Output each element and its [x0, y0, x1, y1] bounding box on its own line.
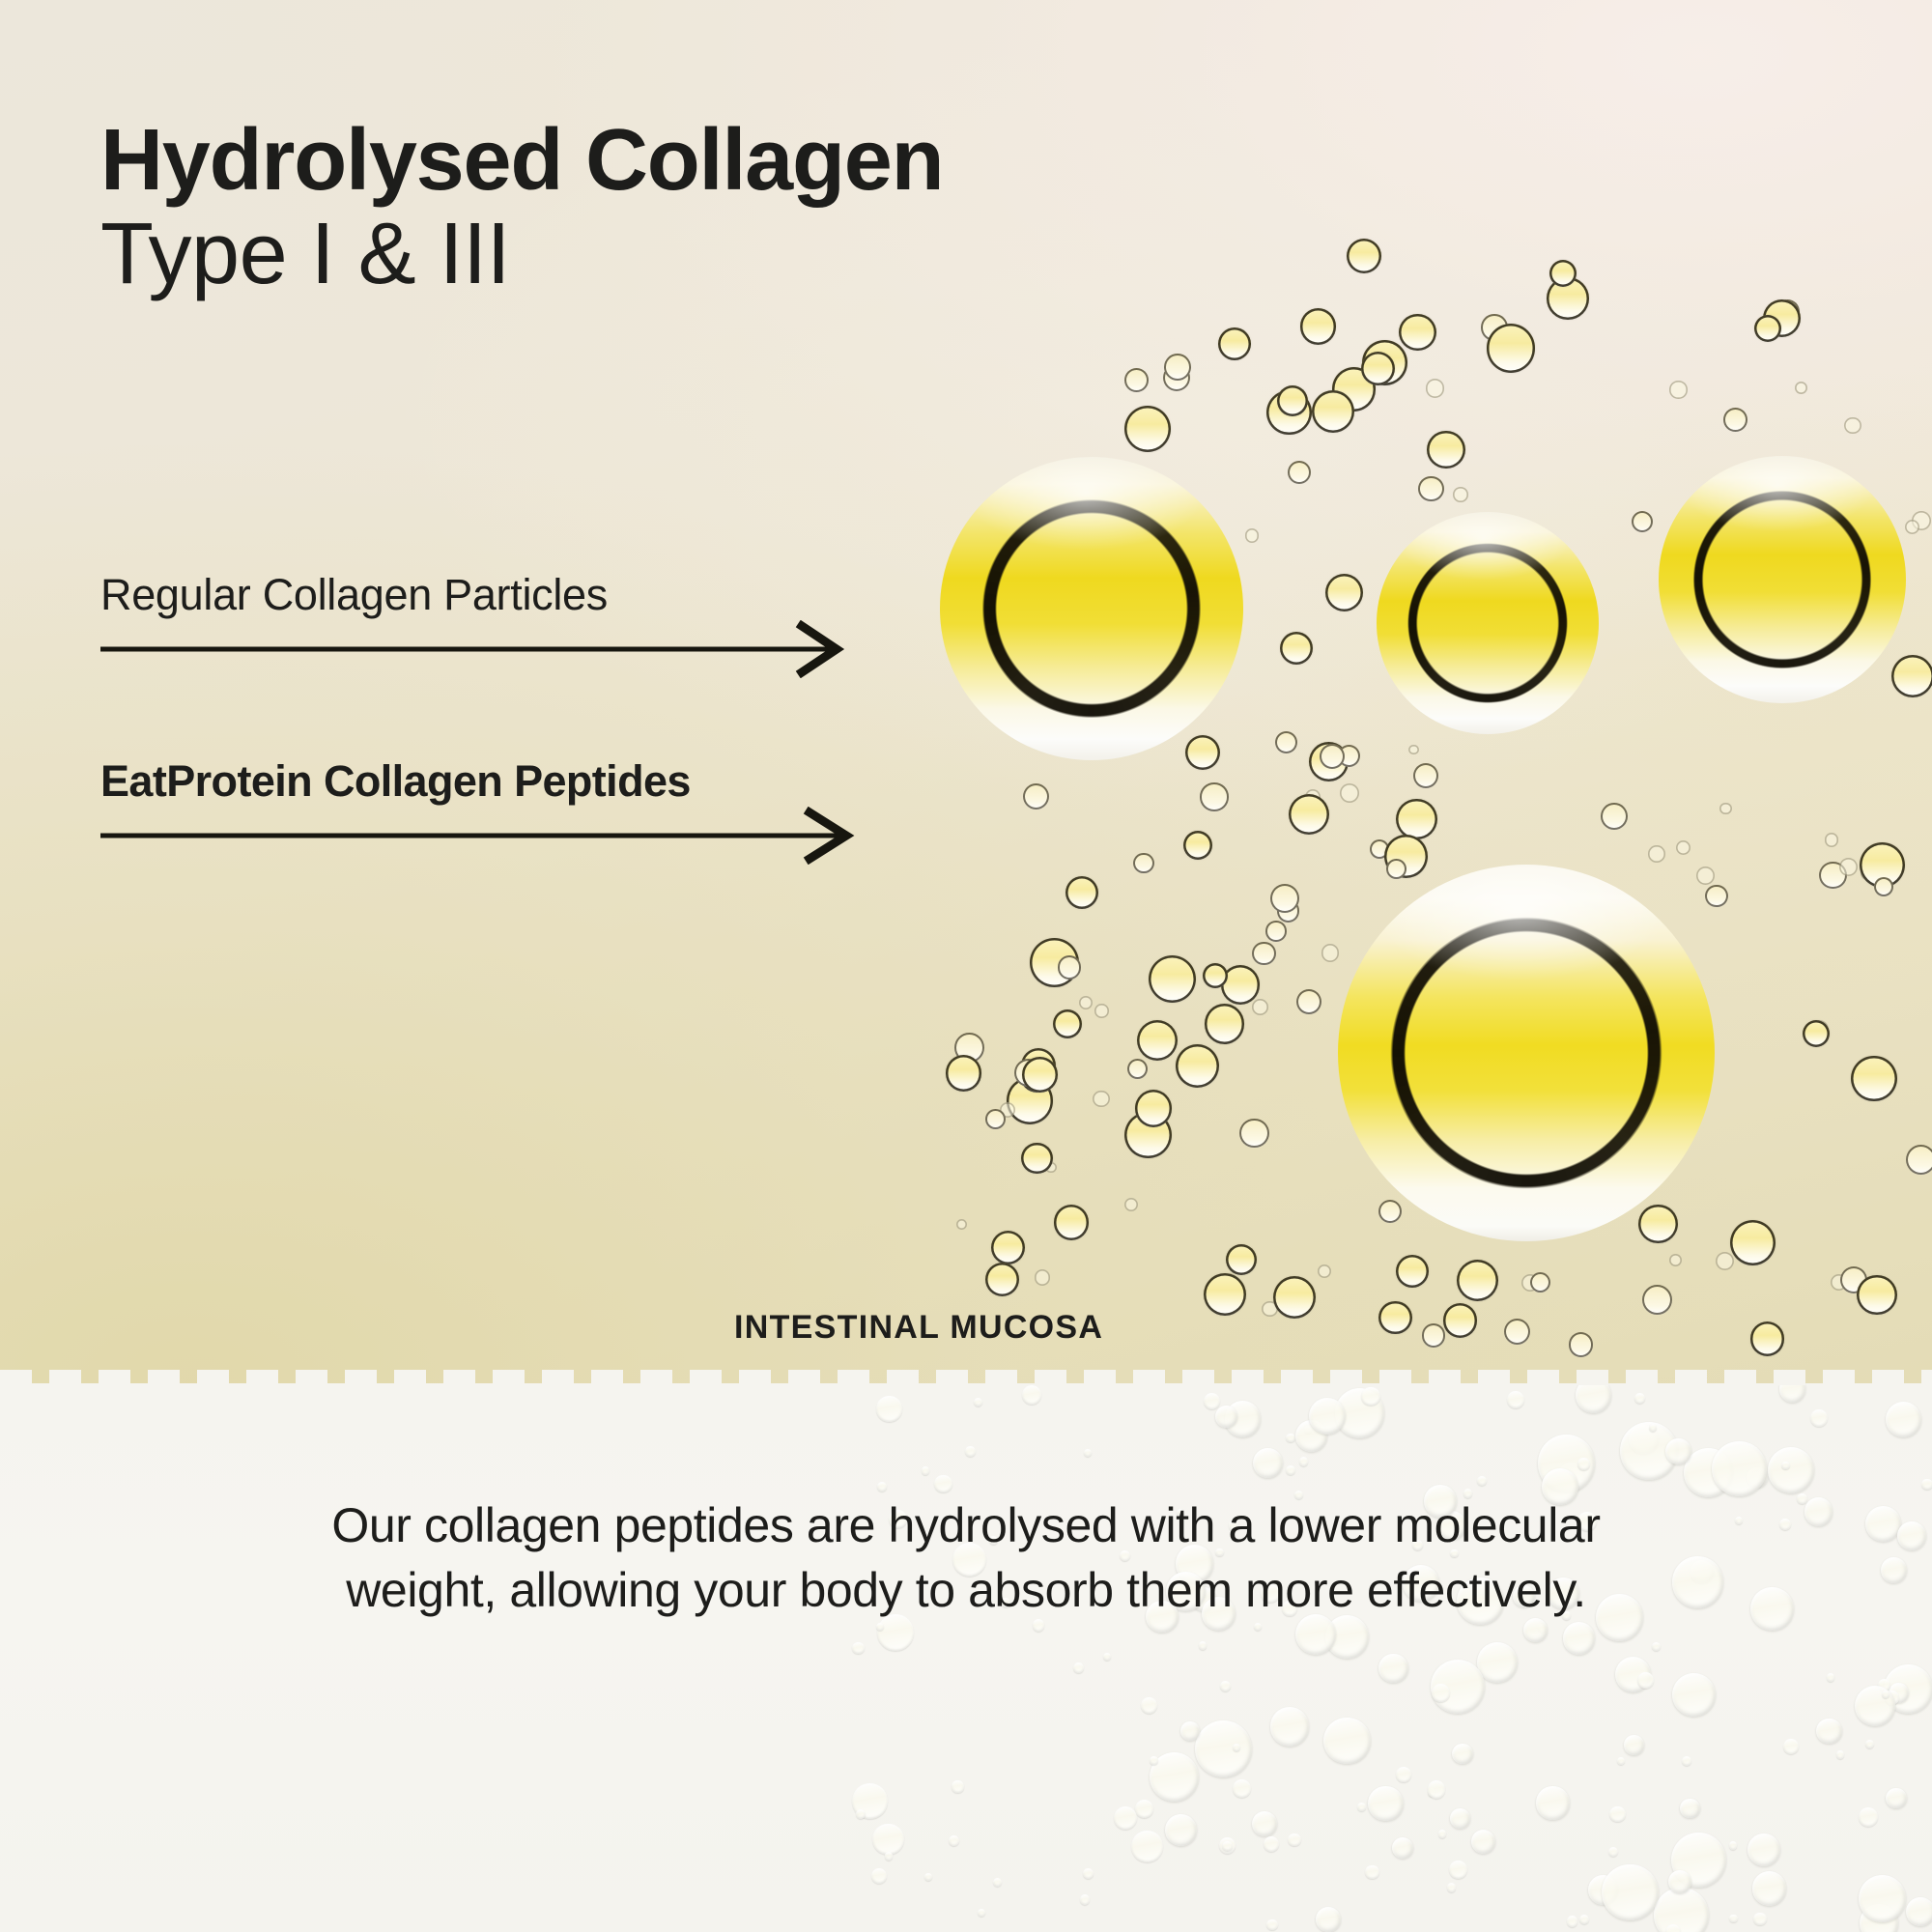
water-bubble [1779, 1383, 1805, 1403]
water-bubble [1672, 1673, 1716, 1717]
water-bubble [1073, 1662, 1084, 1673]
oil-bubble [1601, 803, 1628, 830]
water-bubble [1576, 1383, 1611, 1413]
water-bubble [1438, 1830, 1446, 1837]
oil-bubble [991, 1231, 1025, 1264]
oil-bubble [1723, 408, 1747, 432]
oil-bubble [1149, 955, 1196, 1003]
water-bubble [1609, 1806, 1626, 1823]
oil-bubble [1730, 1220, 1776, 1265]
water-bubble [1567, 1916, 1577, 1926]
oil-bubble [1361, 352, 1395, 385]
oil-bubble [1905, 520, 1919, 534]
water-bubble [1747, 1833, 1780, 1866]
water-bubble [1141, 1697, 1157, 1714]
water-bubble [1624, 1735, 1643, 1754]
oil-bubble [1200, 782, 1228, 810]
water-bubble [1855, 1686, 1895, 1726]
oil-bubble [946, 1055, 981, 1091]
oil-bubble [1487, 324, 1535, 372]
water-bubble [1921, 1479, 1932, 1490]
water-bubble [1022, 1385, 1041, 1405]
water-bubble [1602, 1864, 1658, 1920]
water-bubble [1816, 1719, 1842, 1745]
water-bubble [1396, 1767, 1411, 1782]
arrow-eatprotein-peptides-icon [100, 807, 873, 865]
oil-bubble [1318, 1264, 1331, 1278]
collagen-droplet [940, 457, 1243, 760]
oil-bubble [1426, 379, 1444, 397]
water-bubble [1253, 1448, 1283, 1478]
water-bubble [1652, 1642, 1661, 1651]
title-line-1: Hydrolysed Collagen [100, 114, 943, 208]
oil-bubble [1705, 885, 1728, 908]
oil-bubble [1288, 461, 1311, 484]
water-bubble [924, 1873, 932, 1881]
water-bubble [1712, 1441, 1767, 1496]
water-bubble [1634, 1393, 1645, 1404]
oil-bubble [1844, 417, 1861, 434]
water-bubble [1781, 1462, 1790, 1470]
oil-bubble [1054, 1205, 1089, 1239]
water-bubble [1752, 1871, 1787, 1906]
infographic-canvas: Hydrolysed Collagen Type I & III Regular… [0, 0, 1932, 1932]
oil-bubble [1185, 735, 1220, 770]
oil-bubble [1176, 1044, 1220, 1089]
oil-bubble [1422, 1323, 1446, 1348]
water-bubble [1378, 1654, 1407, 1683]
oil-bubble [1642, 1285, 1672, 1315]
oil-bubble [1857, 1275, 1897, 1316]
water-bubble [1447, 1883, 1457, 1892]
oil-bubble [1396, 799, 1437, 840]
water-bubble [1886, 1788, 1906, 1808]
water-bubble [1195, 1720, 1252, 1777]
hero-section: Hydrolysed Collagen Type I & III Regular… [0, 0, 1932, 1383]
water-bubble [1361, 1387, 1379, 1406]
oil-bubble [956, 1219, 967, 1230]
water-bubble [1654, 1888, 1709, 1932]
water-bubble [1288, 1833, 1301, 1847]
water-bubble [1608, 1847, 1618, 1857]
oil-bubble [1418, 476, 1443, 501]
water-bubble [1682, 1756, 1691, 1766]
bottom-paragraph-line-2: weight, allowing your body to absorb the… [106, 1558, 1826, 1623]
water-bubble [1103, 1653, 1111, 1661]
water-bubble [949, 1835, 959, 1846]
water-bubble [1579, 1915, 1589, 1924]
water-bubble [856, 1809, 866, 1819]
oil-bubble [1204, 1273, 1246, 1316]
water-bubble [1906, 1897, 1932, 1926]
water-bubble [965, 1446, 975, 1456]
oil-bubble [1124, 406, 1171, 452]
water-bubble [876, 1623, 884, 1631]
oil-bubble [1252, 999, 1268, 1015]
oil-bubble [1023, 783, 1049, 810]
oil-bubble [1300, 308, 1336, 344]
oil-bubble [1124, 1198, 1138, 1211]
water-bubble [876, 1396, 901, 1421]
oil-bubble [1399, 314, 1436, 352]
oil-bubble [1203, 963, 1228, 988]
oil-bubble [1312, 390, 1354, 433]
water-bubble [922, 1466, 930, 1475]
oil-bubble [1275, 731, 1297, 753]
oil-bubble [1058, 955, 1082, 980]
oil-bubble [985, 1109, 1006, 1129]
page-title: Hydrolysed Collagen Type I & III [100, 114, 943, 301]
oil-bubble [1891, 655, 1932, 697]
oil-bubble [1851, 1056, 1897, 1102]
oil-bubble [1022, 1057, 1058, 1093]
droplet-gloss [1377, 512, 1599, 734]
water-bubble [1131, 1831, 1163, 1862]
collagen-droplet [1659, 456, 1906, 703]
oil-bubble [1386, 859, 1406, 879]
oil-bubble [1803, 1020, 1830, 1047]
water-bubble [1729, 1841, 1738, 1850]
water-bubble [952, 1780, 963, 1792]
water-bubble [1617, 1757, 1625, 1765]
water-bubble [1536, 1786, 1569, 1819]
bottom-paragraph: Our collagen peptides are hydrolysed wit… [0, 1493, 1932, 1623]
oil-bubble [1137, 1020, 1178, 1061]
droplet-gloss [1338, 865, 1715, 1241]
oil-bubble [1648, 845, 1665, 863]
water-bubble [1637, 1672, 1654, 1689]
water-bubble [1563, 1622, 1596, 1655]
water-bubble [1252, 1811, 1277, 1836]
water-bubble [1323, 1718, 1370, 1764]
water-bubble [1080, 1894, 1090, 1904]
oil-bubble [1273, 1276, 1316, 1319]
water-bubble [1254, 1623, 1262, 1631]
water-bubble [974, 1398, 982, 1406]
water-bubble [1199, 1641, 1207, 1649]
water-bubble [1135, 1800, 1153, 1818]
water-bubble [1286, 1465, 1295, 1475]
water-bubble [978, 1909, 985, 1917]
water-bubble [1114, 1806, 1137, 1830]
oil-bubble [1457, 1260, 1498, 1301]
oil-bubble [1183, 831, 1212, 860]
oil-bubble [1716, 1252, 1734, 1270]
water-bubble [1357, 1803, 1366, 1811]
oil-bubble [1549, 260, 1577, 287]
water-bubble [1836, 1750, 1844, 1758]
water-bubble [1859, 1875, 1906, 1922]
water-bubble [1680, 1799, 1699, 1818]
water-bubble [1577, 1458, 1590, 1470]
water-bubble [1286, 1434, 1295, 1443]
oil-bubble [1638, 1205, 1677, 1243]
oil-bubble [1325, 574, 1363, 611]
oil-bubble [1035, 1269, 1050, 1285]
water-bubble [1665, 1438, 1691, 1464]
water-bubble [1368, 1786, 1404, 1822]
oil-bubble [1265, 921, 1286, 941]
water-bubble [1083, 1868, 1094, 1879]
callout-regular-collagen: Regular Collagen Particles [100, 570, 864, 678]
water-bubble [1729, 1915, 1737, 1922]
oil-bubble [1321, 944, 1339, 961]
callout-label-eatprotein-peptides: EatProtein Collagen Peptides [100, 756, 873, 807]
water-bubble [1882, 1690, 1889, 1698]
water-bubble [1270, 1707, 1309, 1746]
water-bubble [1220, 1681, 1232, 1692]
oil-bubble [1079, 996, 1093, 1009]
water-bubble [993, 1878, 1002, 1887]
intestinal-mucosa-label: INTESTINAL MUCOSA [734, 1309, 1103, 1347]
water-bubble [1753, 1913, 1766, 1925]
water-bubble [1450, 1808, 1470, 1829]
water-bubble [1859, 1807, 1878, 1827]
oil-bubble [1093, 1091, 1110, 1108]
oil-bubble [1906, 1145, 1932, 1175]
water-bubble [934, 1475, 952, 1492]
oil-bubble [1669, 381, 1687, 398]
oil-bubble [1874, 877, 1893, 896]
water-bubble [1428, 1780, 1446, 1799]
oil-bubble [1053, 1009, 1082, 1038]
water-bubble [885, 1852, 893, 1860]
water-bubble [1084, 1449, 1092, 1457]
callout-label-regular-collagen: Regular Collagen Particles [100, 570, 864, 620]
oil-bubble [1296, 989, 1321, 1014]
water-bubble [1233, 1779, 1251, 1798]
water-bubble [872, 1824, 904, 1856]
oil-bubble [1239, 1119, 1268, 1148]
droplet-gloss [1659, 456, 1906, 703]
oil-bubble [1408, 745, 1418, 754]
water-bubble [1827, 1673, 1834, 1681]
title-line-2: Type I & III [100, 208, 943, 301]
oil-bubble [1676, 840, 1690, 855]
oil-bubble [1453, 487, 1468, 502]
water-bubble [877, 1482, 887, 1492]
oil-bubble [1795, 382, 1807, 394]
oil-bubble [1396, 1255, 1429, 1288]
oil-bubble [1839, 858, 1858, 876]
oil-bubble [1245, 528, 1260, 543]
droplet-gloss [940, 457, 1243, 760]
water-bubble [1886, 1402, 1922, 1438]
bottom-paragraph-line-1: Our collagen peptides are hydrolysed wit… [106, 1493, 1826, 1558]
water-bubble [1783, 1739, 1799, 1754]
water-bubble [1865, 1740, 1874, 1748]
water-bubble [871, 1868, 887, 1884]
water-bubble [1299, 1457, 1308, 1465]
oil-bubble [1413, 763, 1438, 788]
oil-bubble [1340, 783, 1359, 803]
oil-bubble [1632, 511, 1653, 532]
peptide-micro-bubble [1065, 876, 1098, 909]
oil-bubble [1669, 1254, 1682, 1266]
oil-bubble [1205, 1004, 1245, 1044]
oil-bubble [1825, 833, 1839, 847]
water-bubble [1477, 1476, 1487, 1486]
water-bubble [1452, 1744, 1473, 1765]
oil-bubble [1530, 1272, 1550, 1293]
water-bubble [1768, 1447, 1814, 1493]
water-bubble [1233, 1744, 1240, 1751]
water-bubble [1264, 1836, 1279, 1852]
oil-bubble [1378, 1200, 1402, 1223]
oil-bubble [1696, 867, 1715, 885]
oil-bubble [1289, 794, 1330, 836]
oil-bubble [1427, 431, 1465, 469]
water-bubble [1316, 1907, 1341, 1932]
water-bubble [1392, 1837, 1413, 1859]
oil-bubble [1569, 1332, 1594, 1357]
oil-bubble [1133, 853, 1154, 874]
oil-bubble [1164, 354, 1191, 381]
oil-bubble [1750, 1321, 1784, 1355]
water-bubble [1810, 1409, 1828, 1427]
arrow-regular-collagen-icon [100, 620, 864, 678]
oil-bubble [1226, 1244, 1258, 1276]
water-bubble [1165, 1814, 1197, 1846]
oil-bubble [1347, 239, 1381, 273]
oil-bubble [1277, 385, 1308, 416]
oil-bubble [1127, 1059, 1148, 1079]
water-bubble [1204, 1393, 1220, 1409]
water-bubble [1449, 1861, 1467, 1879]
oil-bubble [1719, 803, 1731, 814]
water-bubble [1432, 1684, 1449, 1701]
oil-bubble [1280, 632, 1313, 665]
water-bubble [1266, 1919, 1277, 1930]
oil-bubble [1135, 1090, 1173, 1127]
perforated-divider [0, 1370, 1932, 1385]
water-bubble [1471, 1830, 1495, 1854]
oil-bubble [1094, 1004, 1108, 1017]
oil-bubble [1754, 315, 1781, 342]
collagen-droplet [1338, 865, 1715, 1241]
callout-eatprotein-peptides: EatProtein Collagen Peptides [100, 756, 873, 865]
oil-bubble [1443, 1303, 1478, 1338]
water-bubble [1507, 1391, 1525, 1409]
bottom-section: Our collagen peptides are hydrolysed wit… [0, 1383, 1932, 1932]
oil-bubble [985, 1263, 1019, 1296]
oil-bubble [1378, 1301, 1411, 1334]
collagen-droplet [1377, 512, 1599, 734]
oil-bubble [1218, 327, 1251, 360]
oil-bubble [1252, 942, 1275, 965]
water-bubble [1365, 1865, 1379, 1880]
water-bubble [852, 1642, 864, 1654]
oil-bubble [1124, 368, 1149, 392]
oil-bubble [1504, 1319, 1531, 1346]
